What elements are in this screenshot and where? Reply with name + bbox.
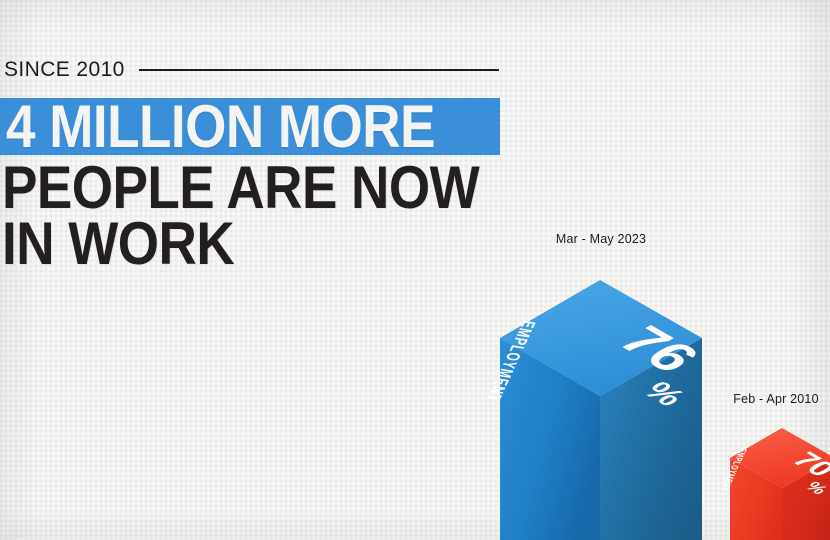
headline-line-2: PEOPLE ARE NOW [2, 158, 479, 218]
eyebrow-rule [139, 69, 499, 71]
eyebrow-row: SINCE 2010 [4, 58, 499, 82]
highlight-banner: 4 MILLION MORE [0, 98, 500, 155]
bar-2010: Feb - Apr 2010 [724, 392, 830, 540]
bar-2010-isometric-svg: 70 % EMPLOYMENT [724, 418, 830, 540]
eyebrow-label: SINCE 2010 [4, 58, 125, 82]
bar-2023-isometric-svg: 76 % EMPLOYMENT [496, 262, 706, 540]
bar-2010-date-label: Feb - Apr 2010 [724, 392, 828, 406]
bar-2023: Mar - May 2023 [496, 232, 706, 540]
highlight-line-text: 4 MILLION MORE [6, 95, 435, 161]
headline-line-3: IN WORK [2, 214, 234, 274]
bar-2023-date-label: Mar - May 2023 [496, 232, 706, 246]
